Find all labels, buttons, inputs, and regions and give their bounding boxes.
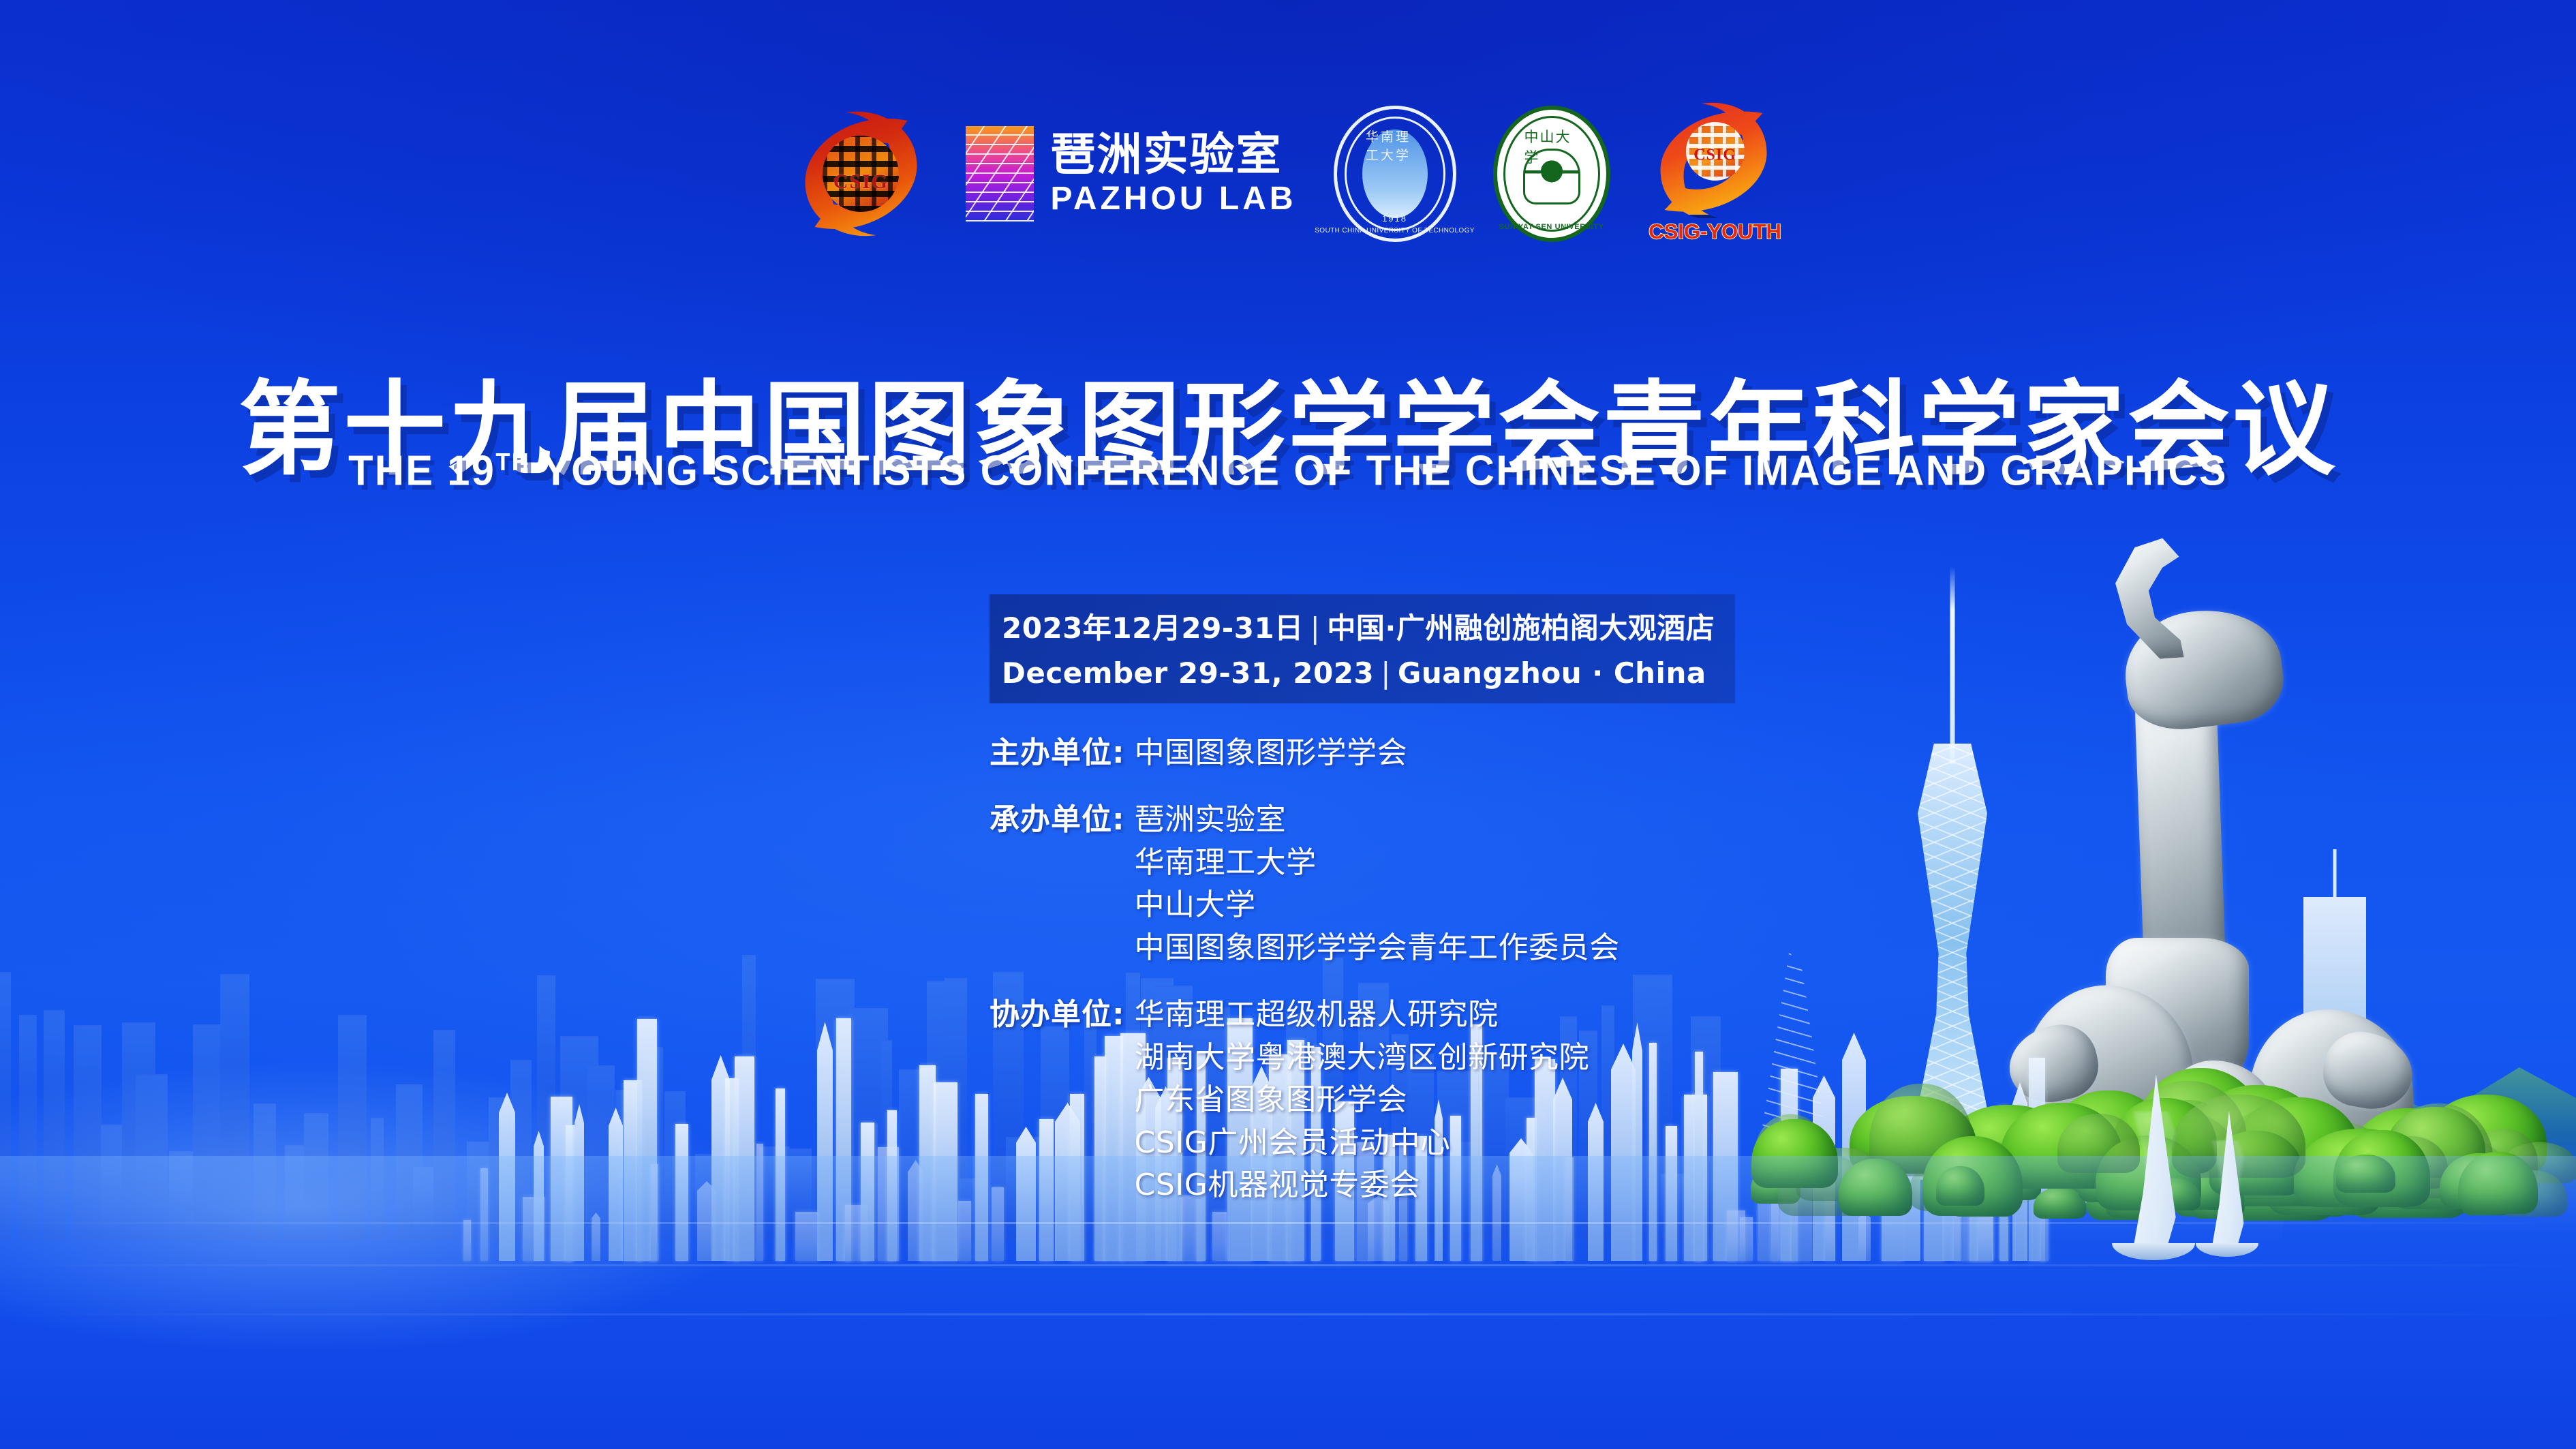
canton-tower-lattice: [1895, 744, 2010, 1180]
tree: [2096, 1135, 2201, 1210]
background-building: [945, 978, 967, 1240]
event-info-block: 2023年12月29-31日|中国·广州融创施柏阁大观酒店 December 2…: [990, 594, 1735, 1207]
sysu-name-en: SUN YAT-SEN UNIVERSITY: [1499, 223, 1604, 231]
skyline-building: [1999, 1105, 2008, 1261]
background-building: [136, 1074, 168, 1240]
background-building: [881, 1040, 892, 1240]
skyline-building: [934, 1082, 957, 1261]
title-en-suffix: YOUNG SCIENTISTS CONFERENCE OF THE CHINE…: [530, 448, 2228, 495]
logo-csig-youth[interactable]: CSIG CSIG-YOUTH: [1647, 102, 1783, 245]
background-building: [169, 1151, 205, 1240]
skyline-building: [711, 1055, 730, 1261]
tree: [2458, 1152, 2538, 1214]
organizer-group-coorganizer: 承办单位: 琶洲实验室 华南理工大学 中山大学 中国图象图形学学会青年工作委员会: [990, 799, 1735, 969]
skyline-building: [1813, 1076, 1835, 1261]
tree: [2198, 1140, 2248, 1181]
sailboat: [2203, 1111, 2252, 1245]
tree: [2134, 1068, 2267, 1182]
tree: [2294, 1129, 2427, 1207]
green-island-trees: [1745, 1064, 2576, 1221]
ram-right-head: [2318, 1026, 2418, 1116]
organizer-item: CSIG机器视觉专委会: [1135, 1164, 1590, 1206]
tree: [2462, 1176, 2511, 1215]
sponsor-logo-row: CSIG 琶洲实验室 PAZHOU LAB 华南理工大学 1918 SOUTH …: [0, 102, 2576, 245]
tree: [2336, 1155, 2395, 1193]
logo-sysu[interactable]: 中山大学 SUN YAT-SEN UNIVERSITY: [1493, 106, 1610, 242]
csig-youth-logo-icon: CSIG CSIG-YOUTH: [1647, 102, 1783, 245]
skyline-building: [1740, 1217, 1753, 1261]
csig-youth-label: CSIG-YOUTH: [1649, 219, 1781, 244]
scut-name-en: SOUTH CHINA UNIVERSITY OF TECHNOLOGY: [1315, 227, 1475, 234]
organizer-label: 主办单位:: [990, 732, 1125, 774]
tree: [2293, 1123, 2392, 1204]
tree: [1936, 1166, 1984, 1206]
logo-csig[interactable]: CSIG: [793, 106, 929, 242]
background-building: [782, 1148, 812, 1240]
separator: |: [1374, 656, 1398, 690]
tree: [1850, 1096, 1976, 1174]
skyline-building: [1924, 1102, 1944, 1261]
sailboat-reflection-sail: [2121, 1112, 2186, 1245]
tree: [2106, 1178, 2173, 1218]
event-venue-cn: 中国·广州融创施柏阁大观酒店: [1327, 611, 1715, 645]
background-building: [467, 1142, 494, 1240]
tree: [2074, 1123, 2171, 1193]
organizer-item: 广东省图象图形学会: [1135, 1079, 1590, 1121]
tree: [1922, 1136, 2023, 1216]
background-building: [587, 1065, 615, 1240]
skyline-building: [592, 1212, 600, 1261]
tree: [2204, 1114, 2340, 1221]
tree: [1839, 1159, 1912, 1216]
skyline-building: [861, 1123, 874, 1261]
tree: [2501, 1142, 2576, 1183]
skyline-building: [566, 1125, 574, 1261]
skyline-building: [534, 1131, 544, 1261]
ram-neck: [2134, 664, 2228, 1035]
skyline-building: [919, 1065, 936, 1261]
canton-tower-body: [1895, 744, 2010, 1180]
skyline-building: [1842, 1033, 1866, 1261]
tree: [2172, 1095, 2305, 1178]
tree: [2234, 1097, 2360, 1183]
tree: [2022, 1124, 2125, 1179]
skyline-building: [908, 1160, 923, 1261]
skyline-building: [1954, 1170, 1978, 1261]
sailboat-reflection-sail: [2203, 1140, 2252, 1245]
event-date-en: December 29-31, 2023: [1002, 656, 1374, 690]
skyline-building: [1903, 1128, 1920, 1261]
skyline-building: [463, 1220, 471, 1261]
skyline-building: [651, 1164, 658, 1261]
background-building: [664, 1091, 686, 1240]
tree: [2057, 1140, 2123, 1199]
tree: [1972, 1143, 2030, 1185]
skyline-building: [523, 1197, 545, 1261]
background-building: [960, 1178, 986, 1240]
skyline-building: [1969, 1135, 1993, 1261]
tree: [2057, 1114, 2140, 1173]
ram-head: [2118, 602, 2288, 736]
water-mist: [0, 1013, 968, 1367]
tree: [2273, 1146, 2335, 1196]
background-building: [759, 1146, 790, 1240]
ram-horn: [2106, 532, 2223, 662]
tree: [1942, 1105, 2074, 1187]
organizer-values: 华南理工超级机器人研究院 湖南大学粤港澳大湾区创新研究院 广东省图象图形学会 C…: [1135, 994, 1590, 1206]
organizer-item: 中国图象图形学学会: [1135, 732, 1408, 774]
skyline-building: [817, 1022, 833, 1261]
tree: [2218, 1107, 2337, 1206]
background-building: [220, 974, 249, 1240]
background-building: [101, 1125, 138, 1240]
ram-right-body: [2245, 1005, 2417, 1160]
scut-founded-year: 1918: [1382, 213, 1407, 224]
tree: [1796, 1148, 1887, 1201]
skyline-building: [756, 1144, 763, 1261]
event-date-cn: 2023年12月29-31日: [1002, 611, 1304, 645]
background-building: [122, 1022, 155, 1240]
title-en-ordinal: TH: [495, 448, 530, 476]
tree: [2330, 1159, 2378, 1198]
tree: [2043, 1090, 2174, 1198]
logo-pazhou-lab[interactable]: 琶洲实验室 PAZHOU LAB: [966, 126, 1296, 222]
background-building: [816, 979, 855, 1240]
scut-name-cn: 华南理工大学: [1366, 127, 1424, 164]
background-building: [489, 1097, 508, 1240]
background-building: [742, 955, 756, 1240]
pazhou-name-en: PAZHOU LAB: [1050, 183, 1296, 215]
skyline-building: [1771, 1200, 1792, 1261]
pazhou-name-cn: 琶洲实验室: [1050, 132, 1296, 177]
skyline-building: [1758, 1159, 1779, 1261]
pazhou-mark-icon: [966, 126, 1034, 222]
tree: [2385, 1107, 2485, 1178]
skyline-building: [1781, 1069, 1798, 1261]
background-building: [193, 1024, 232, 1240]
skyline-building: [958, 1201, 971, 1261]
csig-youth-mark-text: CSIG: [1693, 147, 1736, 165]
date-venue-banner: 2023年12月29-31日|中国·广州融创施柏阁大观酒店 December 2…: [990, 594, 1735, 703]
tree: [1972, 1157, 2041, 1200]
sky-glow-top: [0, 0, 2576, 637]
tree: [2387, 1135, 2511, 1209]
csig-logo-icon: CSIG: [793, 106, 929, 242]
tree: [2331, 1140, 2421, 1207]
skyline-building: [637, 1019, 657, 1261]
csig-logo-text: CSIG: [833, 170, 889, 194]
organizer-item: 华南理工大学: [1135, 842, 1620, 884]
statue-rock: [2106, 938, 2249, 1081]
tree: [2384, 1103, 2494, 1198]
tree: [2136, 1100, 2238, 1187]
tree: [2498, 1170, 2567, 1217]
skyline-building: [697, 1181, 716, 1261]
background-building: [304, 1113, 328, 1240]
tree: [2456, 1172, 2509, 1204]
background-building: [867, 1123, 878, 1240]
background-building: [338, 1015, 367, 1240]
date-venue-line-en: December 29-31, 2023|Guangzhou · China: [1002, 656, 1715, 690]
organizer-item: 琶洲实验室: [1135, 799, 1620, 841]
five-rams-statue: [2004, 522, 2426, 1204]
date-venue-line-cn: 2023年12月29-31日|中国·广州融创施柏阁大观酒店: [1002, 605, 1715, 647]
background-building: [726, 1088, 740, 1240]
tree: [2129, 1081, 2247, 1174]
background-building: [413, 1167, 453, 1240]
sysu-seal-icon: 中山大学 SUN YAT-SEN UNIVERSITY: [1493, 106, 1610, 242]
ram-left-head: [2002, 1018, 2104, 1110]
skyscraper-right: [2303, 897, 2366, 1176]
organizer-label: 承办单位:: [990, 799, 1125, 841]
skyline-building: [2029, 1058, 2045, 1261]
skyline-building: [735, 1056, 754, 1261]
background-building: [19, 1015, 37, 1240]
skyline-building: [975, 1094, 988, 1261]
tree: [2112, 1098, 2217, 1174]
tree: [1948, 1163, 2019, 1217]
skyline-building: [845, 1205, 868, 1261]
event-venue-en: Guangzhou · China: [1398, 656, 1706, 690]
tree: [2087, 1160, 2164, 1220]
background-building: [44, 1010, 65, 1240]
organizer-item: 中山大学: [1135, 884, 1620, 926]
skyline-building: [2041, 1163, 2049, 1261]
sailboat: [2121, 1074, 2186, 1245]
skyline-building: [2012, 1082, 2027, 1261]
logo-scut[interactable]: 华南理工大学 1918 SOUTH CHINA UNIVERSITY OF TE…: [1334, 106, 1456, 242]
background-building: [285, 1145, 306, 1240]
background-building: [0, 972, 11, 1240]
skyline-building: [551, 1097, 572, 1261]
background-building: [695, 1154, 733, 1240]
tree: [2174, 1172, 2245, 1217]
sailboat-reflection: [2121, 1112, 2186, 1245]
tree: [1778, 1154, 1869, 1216]
skyline-building: [1825, 1197, 1835, 1261]
sailboat-sail: [2203, 1111, 2252, 1245]
organizer-values: 中国图象图形学学会: [1135, 732, 1408, 774]
tree: [2164, 1164, 2231, 1210]
tree: [2269, 1157, 2380, 1215]
skyline-building: [1942, 1139, 1961, 1261]
sailboat-hull: [2196, 1243, 2258, 1257]
background-building: [560, 1036, 598, 1240]
background-building: [254, 1103, 276, 1240]
skyline-building: [795, 1212, 819, 1261]
tree: [2078, 1153, 2151, 1202]
separator: |: [1304, 611, 1328, 645]
skyline-building: [1978, 1205, 1992, 1261]
pazhou-diagonal-lines: [966, 126, 1034, 222]
tree: [2440, 1153, 2521, 1208]
tree: [2235, 1127, 2350, 1187]
skyline-building: [480, 1168, 488, 1261]
skyline-building: [887, 1110, 897, 1261]
tree: [2000, 1103, 2123, 1189]
skyline-building: [878, 1147, 899, 1261]
sailboat-hull: [2112, 1243, 2196, 1260]
page-title-english: THE 19TH YOUNG SCIENTISTS CONFERENCE OF …: [52, 450, 2525, 493]
background-building: [899, 1069, 933, 1240]
skyline-building: [836, 1018, 851, 1261]
sailboat-sail: [2121, 1074, 2186, 1245]
skyline-building: [776, 1088, 785, 1261]
background-building: [927, 981, 945, 1240]
organizer-label: 协办单位:: [990, 994, 1125, 1036]
conference-poster: CSIG 琶洲实验室 PAZHOU LAB 华南理工大学 1918 SOUTH …: [0, 0, 2576, 1449]
organizer-item: 中国图象图形学学会青年工作委员会: [1135, 927, 1620, 969]
skyline-building: [1792, 1161, 1812, 1261]
canton-tower: [1895, 566, 2010, 1180]
skyline-building: [624, 1080, 642, 1261]
tree: [1910, 1155, 2007, 1211]
background-building: [644, 1047, 663, 1240]
tree: [1954, 1142, 2027, 1200]
tree: [2284, 1159, 2350, 1217]
ram-left-body: [2019, 980, 2199, 1148]
skyline-building: [675, 1124, 688, 1261]
organizer-item: 湖南大学粤港澳大湾区创新研究院: [1135, 1037, 1590, 1079]
organizer-group-host: 主办单位: 中国图象图形学学会: [990, 732, 1735, 774]
background-building: [371, 1118, 384, 1240]
tree: [2470, 1129, 2538, 1183]
skyline-building: [574, 1104, 584, 1261]
tree: [2214, 1119, 2324, 1198]
tree: [2104, 1109, 2235, 1180]
tree: [2190, 1085, 2325, 1183]
tree: [1751, 1165, 1800, 1204]
background-building: [537, 975, 555, 1240]
tree: [2144, 1178, 2201, 1210]
organizer-item: 华南理工超级机器人研究院: [1135, 994, 1590, 1036]
skyline-building: [1212, 1212, 1227, 1261]
background-building: [433, 1030, 455, 1240]
water-reflection-streak: [0, 1313, 2576, 1315]
skyline-building: [1858, 1212, 1871, 1261]
tree: [2034, 1187, 2086, 1219]
water-reflection-streak: [0, 1264, 2576, 1266]
tree: [2209, 1131, 2303, 1195]
skyline-building: [1882, 1133, 1903, 1261]
skyline-building: [609, 1108, 623, 1261]
organizer-group-supporter: 协办单位: 华南理工超级机器人研究院 湖南大学粤港澳大湾区创新研究院 广东省图象…: [990, 994, 1735, 1206]
tree: [2371, 1136, 2448, 1189]
background-building: [848, 1008, 888, 1240]
scut-seal-icon: 华南理工大学 1918 SOUTH CHINA UNIVERSITY OF TE…: [1334, 106, 1456, 242]
tree: [1869, 1084, 1973, 1176]
statue-base: [2010, 1142, 2419, 1204]
sailboat-reflection: [2203, 1140, 2252, 1245]
canton-tower-antenna: [1950, 566, 1955, 764]
skyline-building: [1727, 1210, 1745, 1261]
background-building: [510, 1060, 532, 1240]
tree: [2329, 1159, 2399, 1205]
tree: [2343, 1108, 2472, 1218]
background-building: [74, 1025, 102, 1240]
water-reflection-streak: [0, 1222, 2576, 1224]
tree: [2425, 1095, 2547, 1174]
organizer-item: CSIG广州会员活动中心: [1135, 1122, 1590, 1164]
distant-mountains: [1806, 1115, 2283, 1245]
skyline-building: [499, 1093, 515, 1261]
tree: [2072, 1125, 2145, 1176]
tree: [2333, 1130, 2430, 1206]
tree: [2191, 1170, 2244, 1219]
background-building: [396, 1084, 423, 1240]
organizer-values: 琶洲实验室 华南理工大学 中山大学 中国图象图形学学会青年工作委员会: [1135, 799, 1620, 969]
title-en-prefix: THE 19: [348, 448, 495, 495]
green-hillside: [2222, 1033, 2576, 1204]
twisted-tower-building: [1762, 951, 1827, 1176]
background-building: [615, 1090, 656, 1240]
tree: [1754, 1114, 1827, 1180]
tree: [1751, 1119, 1838, 1188]
tree: [2220, 1105, 2348, 1179]
sysu-gate-icon: [1523, 149, 1580, 204]
skyline-building: [725, 1078, 739, 1261]
ram-center-body: [2157, 1061, 2280, 1176]
